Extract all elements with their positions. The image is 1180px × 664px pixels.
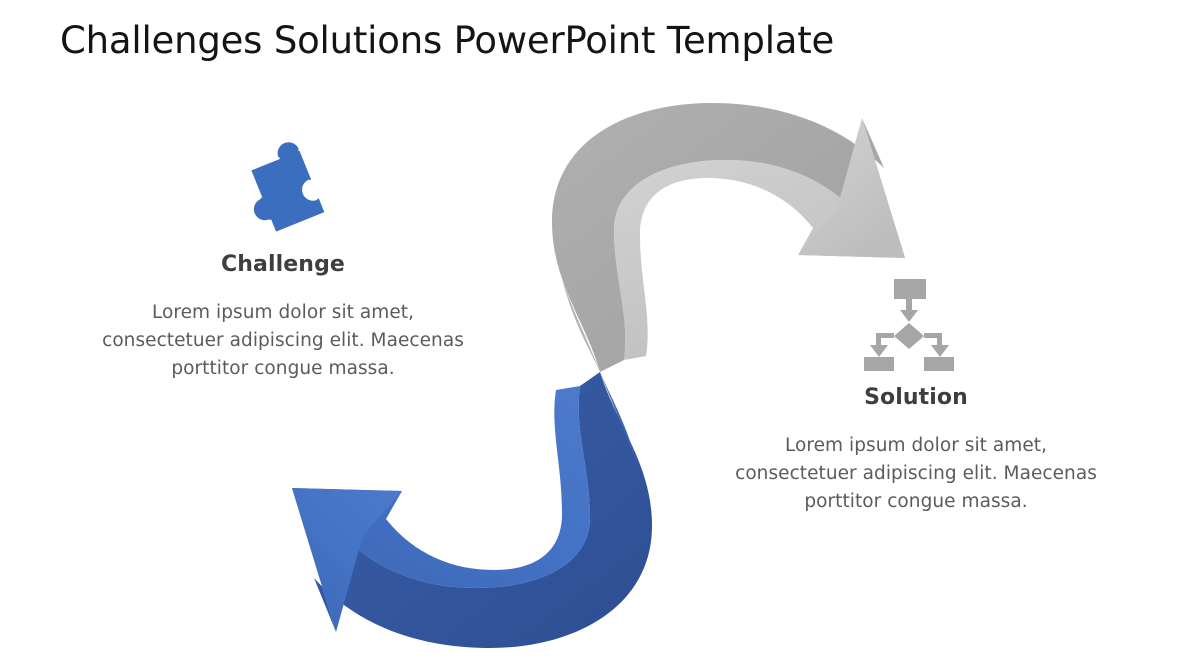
challenge-icon-container [228, 136, 338, 244]
flowchart-diamond [894, 323, 924, 349]
challenge-body-text: Lorem ipsum dolor sit amet, consectetuer… [96, 299, 470, 383]
solution-text-block: Solution Lorem ipsum dolor sit amet, con… [722, 385, 1110, 516]
flowchart-bottom-right-box [924, 357, 954, 371]
page-title: Challenges Solutions PowerPoint Template [60, 18, 1120, 64]
solution-body-text: Lorem ipsum dolor sit amet, consectetuer… [722, 432, 1110, 516]
gray-arrow-head [798, 118, 905, 258]
blue-arrow-head [292, 488, 402, 632]
challenge-text-block: Challenge Lorem ipsum dolor sit amet, co… [96, 252, 470, 383]
slide-canvas: Challenges Solutions PowerPoint Template [0, 0, 1180, 664]
flowchart-top-box [894, 279, 926, 299]
flowchart-icon [862, 277, 958, 371]
solution-icon-container [862, 277, 958, 371]
puzzle-piece-icon [228, 136, 338, 244]
curved-arrow-gray [552, 103, 905, 372]
flowchart-bottom-left-box [864, 357, 894, 371]
challenge-heading: Challenge [96, 252, 470, 277]
curved-arrow-blue [292, 372, 652, 648]
solution-heading: Solution [722, 385, 1110, 410]
